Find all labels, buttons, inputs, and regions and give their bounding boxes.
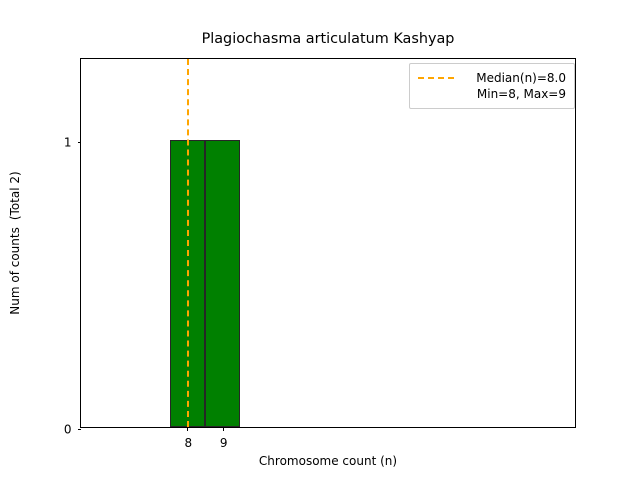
xtick-label-8: 8	[184, 437, 192, 450]
ytick-mark-1: 1	[78, 142, 82, 143]
chart-figure: Plagiochasma articulatum Kashyap 0 1 8 9…	[0, 0, 640, 480]
bar-chromosome-9[interactable]	[205, 140, 240, 427]
xtick-mark-9: 9	[223, 427, 224, 431]
legend-label-median: Median(n)=8.0	[462, 70, 566, 86]
legend-label-range: Min=8, Max=9	[462, 86, 566, 102]
legend-entry-median: Median(n)=8.0 Min=8, Max=9	[418, 70, 566, 102]
y-axis-label-line2: (Total 2)	[7, 171, 23, 220]
x-axis-label: Chromosome count (n)	[80, 454, 576, 468]
xtick-mark-8: 8	[187, 427, 188, 431]
xtick-label-9: 9	[220, 437, 228, 450]
median-vline	[187, 59, 189, 427]
legend-box: Median(n)=8.0 Min=8, Max=9	[409, 63, 575, 109]
plot-inner	[81, 59, 575, 427]
y-axis-label: Num of counts (Total 2)	[0, 58, 30, 428]
y-axis-label-line1: Num of counts	[7, 227, 23, 315]
ytick-label-0: 0	[64, 424, 72, 437]
ytick-mark-0: 0	[78, 429, 82, 430]
dashed-line-icon	[418, 70, 454, 86]
chart-title: Plagiochasma articulatum Kashyap	[80, 31, 576, 48]
legend-text: Median(n)=8.0 Min=8, Max=9	[462, 70, 566, 102]
plot-area: 0 1 8 9	[80, 58, 576, 428]
ytick-label-1: 1	[64, 137, 72, 150]
